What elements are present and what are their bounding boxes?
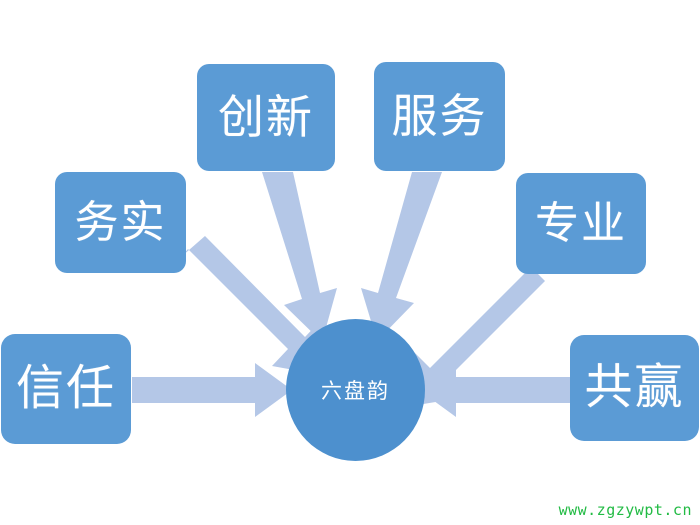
- arrow-fuwu-to-center: [361, 172, 442, 341]
- center-node[interactable]: 六盘韵: [286, 319, 425, 461]
- node-xinren[interactable]: 信任: [1, 334, 131, 444]
- center-node-label: 六盘韵: [321, 375, 390, 405]
- node-fuwu[interactable]: 服务: [374, 62, 505, 171]
- node-zhuanye[interactable]: 专业: [516, 173, 646, 274]
- node-xinren-label: 信任: [16, 365, 116, 413]
- node-chuangxin-label: 创新: [218, 95, 314, 141]
- node-chuangxin[interactable]: 创新: [197, 64, 335, 171]
- node-wushi[interactable]: 务实: [55, 172, 186, 273]
- node-gongying[interactable]: 共赢: [570, 335, 699, 441]
- node-wushi-label: 务实: [75, 201, 167, 245]
- diagram-canvas: 创新 服务 务实 专业 信任 共赢 六盘韵 www.zgzywpt.cn: [0, 0, 700, 525]
- arrow-xinren-to-center: [132, 363, 292, 417]
- watermark: www.zgzywpt.cn: [559, 501, 692, 519]
- node-gongying-label: 共赢: [584, 364, 684, 412]
- node-fuwu-label: 服务: [392, 94, 488, 140]
- node-zhuanye-label: 专业: [535, 202, 627, 246]
